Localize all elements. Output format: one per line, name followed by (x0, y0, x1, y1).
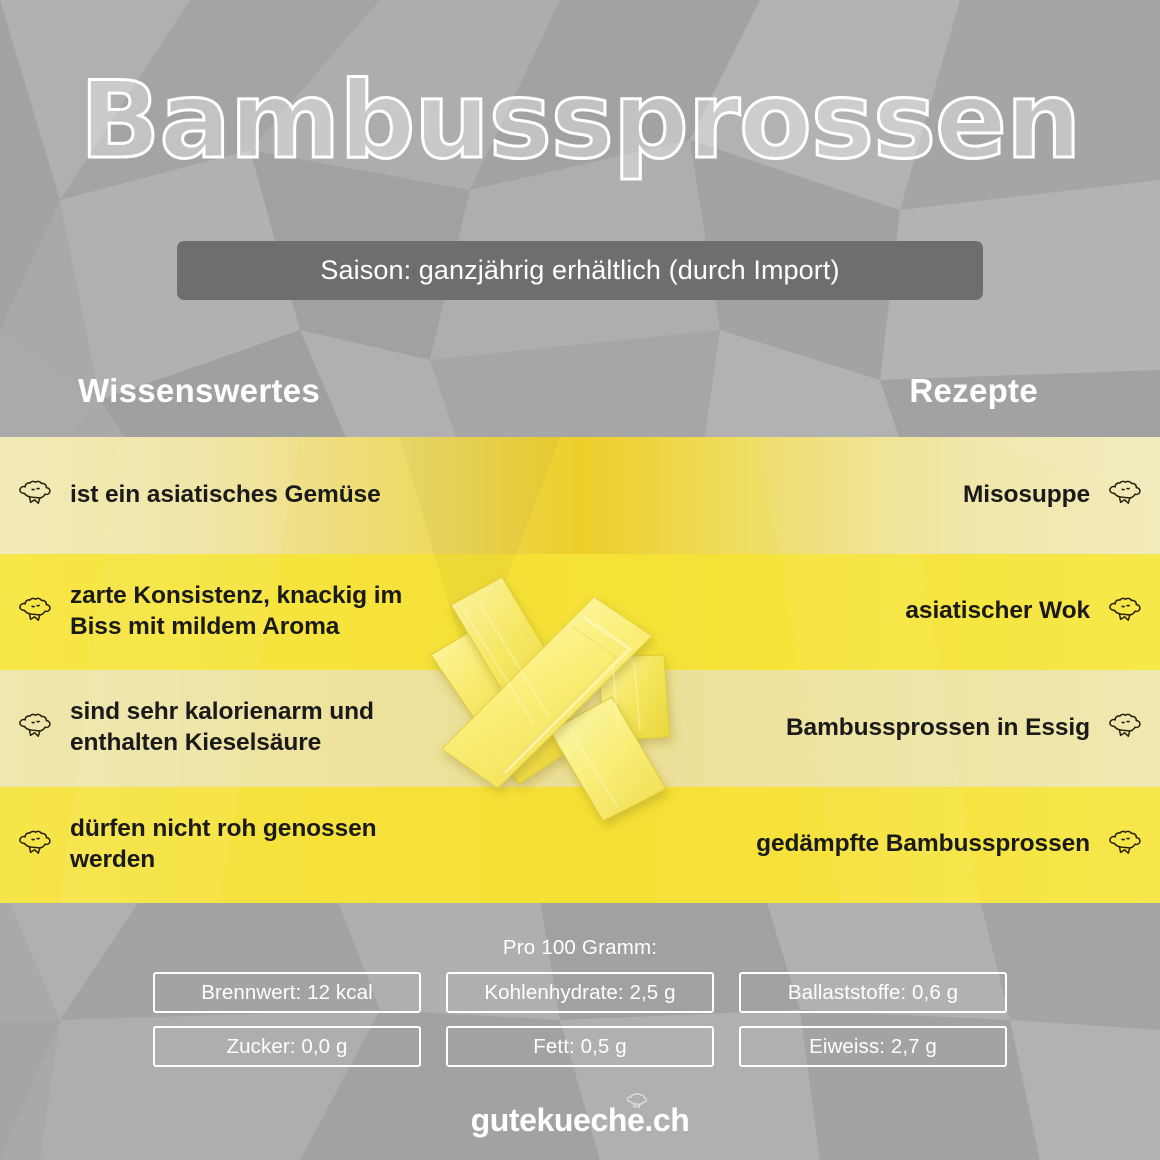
recipe-cell: Bambussprossen in Essig (786, 713, 1142, 744)
chef-hat-icon (18, 480, 52, 510)
recipe-cell: asiatischer Wok (905, 596, 1142, 627)
nutrition-grid: Brennwert: 12 kcal Kohlenhydrate: 2,5 g … (0, 972, 1160, 1067)
recipe-text: asiatischer Wok (905, 596, 1090, 627)
fact-cell: ist ein asiatisches Gemüse (18, 480, 381, 511)
nutrition-item-kohlenhydrate: Kohlenhydrate: 2,5 g (446, 972, 714, 1013)
table-row: sind sehr kalorienarm und enthalten Kies… (0, 670, 1160, 787)
season-text: Saison: ganzjährig erhältlich (durch Imp… (320, 255, 839, 286)
fact-text: sind sehr kalorienarm und enthalten Kies… (70, 697, 374, 759)
season-bar: Saison: ganzjährig erhältlich (durch Imp… (177, 241, 983, 300)
fact-text: ist ein asiatisches Gemüse (70, 480, 381, 511)
page-title: Bambussprossen (80, 62, 1081, 181)
fact-cell: zarte Konsistenz, knackig im Biss mit mi… (18, 581, 402, 643)
nutrition-item-eiweiss: Eiweiss: 2,7 g (739, 1026, 1007, 1067)
nutrition-item-zucker: Zucker: 0,0 g (153, 1026, 421, 1067)
chef-hat-icon (18, 830, 52, 860)
nutrition-item-brennwert: Brennwert: 12 kcal (153, 972, 421, 1013)
fact-cell: sind sehr kalorienarm und enthalten Kies… (18, 697, 374, 759)
recipe-text: Misosuppe (963, 480, 1090, 511)
chef-hat-icon (18, 713, 52, 743)
footer: gutekueche.ch (0, 1102, 1160, 1139)
column-header-rezepte: Rezepte (909, 372, 1038, 410)
chef-hat-icon (1108, 480, 1142, 510)
nutrition-item-fett: Fett: 0,5 g (446, 1026, 714, 1067)
chef-hat-icon (626, 1093, 648, 1112)
infographic-root: Bambussprossen Saison: ganzjährig erhält… (0, 0, 1160, 1160)
recipe-text: gedämpfte Bambussprossen (756, 829, 1090, 860)
table-row: ist ein asiatisches Gemüse Misosuppe (0, 437, 1160, 554)
column-headers: Wissenswertes Rezepte (0, 372, 1160, 422)
fact-text: zarte Konsistenz, knackig im Biss mit mi… (70, 581, 402, 643)
chef-hat-icon (1108, 597, 1142, 627)
nutrition-item-ballaststoffe: Ballaststoffe: 0,6 g (739, 972, 1007, 1013)
recipe-text: Bambussprossen in Essig (786, 713, 1090, 744)
fact-cell: dürfen nicht roh genossen werden (18, 814, 377, 876)
table-row: dürfen nicht roh genossen werden gedämpf… (0, 787, 1160, 904)
chef-hat-icon (1108, 713, 1142, 743)
column-header-wissenswertes: Wissenswertes (78, 372, 320, 410)
brand-text: gutekueche.ch (471, 1102, 690, 1138)
chef-hat-icon (18, 597, 52, 627)
brand-logo: gutekueche.ch (471, 1102, 690, 1139)
content-rows: ist ein asiatisches Gemüse Misosuppe (0, 437, 1160, 903)
chef-hat-icon (1108, 830, 1142, 860)
fact-text: dürfen nicht roh genossen werden (70, 814, 377, 876)
nutrition-label: Pro 100 Gramm: (0, 936, 1160, 960)
table-row: zarte Konsistenz, knackig im Biss mit mi… (0, 554, 1160, 671)
nutrition-section: Pro 100 Gramm: Brennwert: 12 kcal Kohlen… (0, 936, 1160, 1067)
recipe-cell: gedämpfte Bambussprossen (756, 829, 1142, 860)
recipe-cell: Misosuppe (963, 480, 1142, 511)
page-title-wrap: Bambussprossen (0, 62, 1160, 181)
